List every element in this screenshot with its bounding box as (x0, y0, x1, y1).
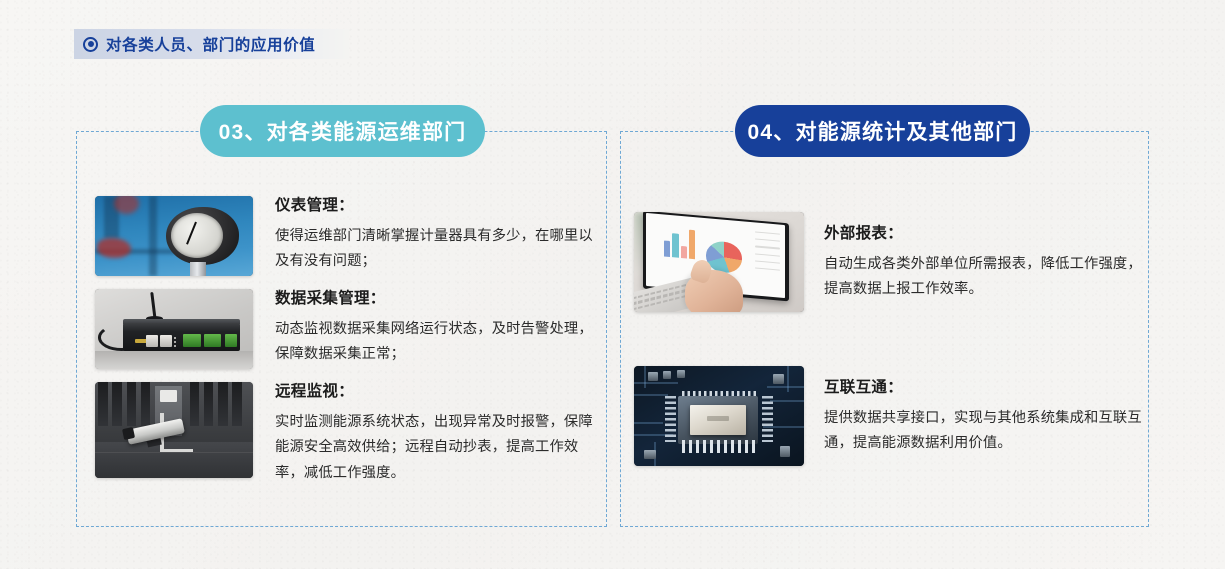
badge-04-label: 04、对能源统计及其他部门 (748, 116, 1018, 146)
item-description: 提供数据共享接口，实现与其他系统集成和互联互通，提高能源数据利用价值。 (824, 406, 1142, 457)
item-title: 仪表管理： (275, 196, 593, 217)
badge-section-04[interactable]: 04、对能源统计及其他部门 (735, 105, 1030, 157)
panel-energy-stats (620, 131, 1149, 527)
badge-03-label: 03、对各类能源运维部门 (219, 116, 467, 146)
list-item: 仪表管理： 使得运维部门清晰掌握计量器具有多少，在哪里以及有没有问题； (95, 196, 593, 276)
page-title: 对各类人员、部门的应用价值 (106, 33, 315, 55)
list-item: 外部报表： 自动生成各类外部单位所需报表，降低工作强度，提高数据上报工作效率。 (634, 212, 1142, 312)
list-item: 远程监视： 实时监测能源系统状态，出现异常及时报警，保障能源安全高效供给；远程自… (95, 382, 593, 486)
list-item: 数据采集管理： 动态监视数据采集网络运行状态，及时告警处理，保障数据采集正常； (95, 289, 593, 369)
item-description: 使得运维部门清晰掌握计量器具有多少，在哪里以及有没有问题； (275, 224, 593, 275)
item-description: 实时监测能源系统状态，出现异常及时报警，保障能源安全高效供给；远程自动抄表，提高… (275, 410, 593, 486)
list-item: 互联互通： 提供数据共享接口，实现与其他系统集成和互联互通，提高能源数据利用价值… (634, 366, 1142, 466)
page-header-bar: 对各类人员、部门的应用价值 (74, 29, 349, 59)
laptop-charts-photo (634, 212, 804, 312)
badge-section-03[interactable]: 03、对各类能源运维部门 (200, 105, 485, 157)
item-title: 互联互通： (824, 378, 1142, 399)
item-title: 数据采集管理： (275, 289, 593, 310)
item-description: 动态监视数据采集网络运行状态，及时告警处理，保障数据采集正常； (275, 317, 593, 368)
cctv-surveillance-camera-photo (95, 382, 253, 478)
item-title: 远程监视： (275, 382, 593, 403)
data-acquisition-gateway-photo (95, 289, 253, 369)
target-dot-icon (83, 37, 98, 52)
item-title: 外部报表： (824, 224, 1142, 245)
pressure-gauge-photo (95, 196, 253, 276)
item-description: 自动生成各类外部单位所需报表，降低工作强度，提高数据上报工作效率。 (824, 252, 1142, 303)
cpu-circuit-board-photo (634, 366, 804, 466)
